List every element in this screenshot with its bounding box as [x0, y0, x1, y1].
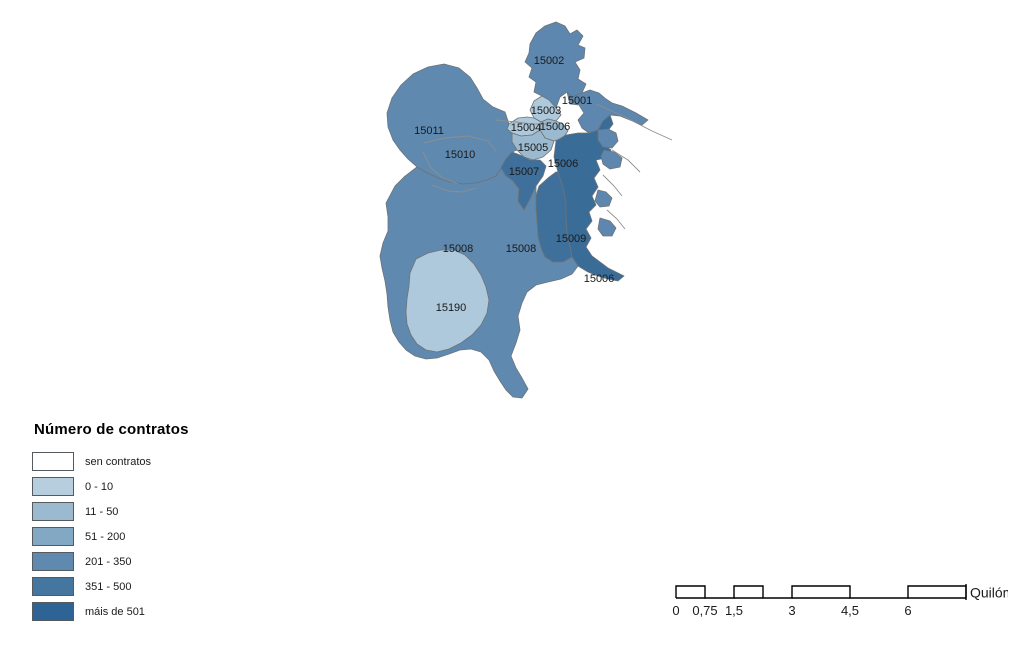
legend-item-mais-de-501[interactable]: máis de 501	[32, 599, 292, 624]
legend-title: Número de contratos	[34, 421, 292, 438]
district-fragment-harbour-b[interactable]	[601, 150, 622, 169]
district-label-15008-west: 15008	[443, 243, 474, 255]
district-label-15007: 15007	[509, 166, 540, 178]
legend-label-51-200: 51 - 200	[85, 531, 125, 543]
scale-bar-graphic: 0 0,75 1,5 3 4,5 6 Quilómetros	[668, 572, 1008, 634]
district-label-15002: 15002	[534, 55, 565, 67]
district-fragment-harbour-d[interactable]	[598, 218, 616, 236]
legend-swatch-51-200	[32, 527, 74, 546]
scale-bar-tick-labels: 0 0,75 1,5 3 4,5 6	[672, 603, 911, 618]
district-label-15006-east: 15006	[548, 158, 579, 170]
scale-tick-6: 6	[904, 603, 911, 618]
scale-tick-3: 3	[788, 603, 795, 618]
legend-item-351-500[interactable]: 351 - 500	[32, 574, 292, 599]
legend-label-0-10: 0 - 10	[85, 481, 113, 493]
legend-label-351-500: 351 - 500	[85, 581, 131, 593]
district-label-15005: 15005	[518, 142, 549, 154]
legend-item-11-50[interactable]: 11 - 50	[32, 499, 292, 524]
district-polygons[interactable]	[380, 22, 648, 398]
scale-bar: 0 0,75 1,5 3 4,5 6 Quilómetros	[668, 572, 1008, 634]
district-label-15001: 15001	[562, 95, 593, 107]
legend-item-51-200[interactable]: 51 - 200	[32, 524, 292, 549]
choropleth-map[interactable]: 15002 15001 15003 15004 15006 15005 1500…	[0, 0, 1026, 420]
district-label-15010: 15010	[445, 149, 476, 161]
legend-item-sen-contratos[interactable]: sen contratos	[32, 449, 292, 474]
district-label-15003: 15003	[531, 105, 562, 117]
legend-swatch-11-50	[32, 502, 74, 521]
legend-item-0-10[interactable]: 0 - 10	[32, 474, 292, 499]
scale-units-label: Quilómetros	[970, 585, 1008, 601]
district-label-15006-centre: 15006	[540, 121, 571, 133]
legend-swatch-201-350	[32, 552, 74, 571]
district-label-15011: 15011	[414, 125, 444, 137]
legend-label-201-350: 201 - 350	[85, 556, 131, 568]
map-canvas[interactable]: 15002 15001 15003 15004 15006 15005 1500…	[0, 0, 1026, 420]
scale-tick-15: 1,5	[725, 603, 743, 618]
legend-swatch-mais-de-501	[32, 602, 74, 621]
district-label-15004: 15004	[511, 122, 542, 134]
legend: Número de contratos sen contratos 0 - 10…	[32, 421, 292, 624]
scale-tick-45: 4,5	[841, 603, 859, 618]
scale-tick-075: 0,75	[692, 603, 717, 618]
legend-swatch-351-500	[32, 577, 74, 596]
legend-label-11-50: 11 - 50	[85, 506, 118, 518]
district-label-15009: 15009	[556, 233, 587, 245]
district-label-15006-south: 15006	[584, 273, 615, 285]
district-fragment-harbour-c[interactable]	[595, 190, 612, 207]
legend-swatch-sen-contratos	[32, 452, 74, 471]
district-label-15190: 15190	[436, 302, 467, 314]
district-label-15008-centre: 15008	[506, 243, 537, 255]
scale-tick-0: 0	[672, 603, 679, 618]
legend-swatch-0-10	[32, 477, 74, 496]
legend-item-201-350[interactable]: 201 - 350	[32, 549, 292, 574]
legend-label-sen-contratos: sen contratos	[85, 456, 151, 468]
scale-bar-outline	[676, 584, 966, 600]
district-polygon-15011[interactable]	[387, 64, 517, 184]
legend-label-mais-de-501: máis de 501	[85, 606, 145, 618]
